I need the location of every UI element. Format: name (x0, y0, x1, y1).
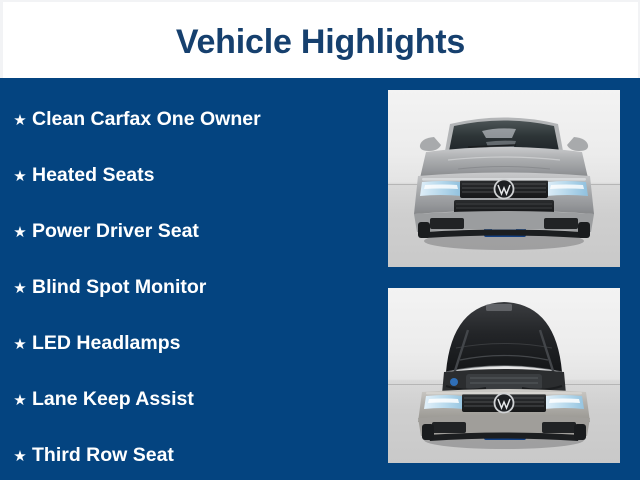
star-icon: ★ (8, 449, 32, 464)
highlight-label: Heated Seats (32, 166, 154, 186)
highlight-label: LED Headlamps (32, 334, 180, 354)
highlight-label: Third Row Seat (32, 446, 174, 466)
list-item: ★ Power Driver Seat (0, 204, 380, 260)
vehicle-illustration-engine (388, 288, 620, 463)
star-icon: ★ (8, 225, 32, 240)
list-item: ★ Clean Carfax One Owner (0, 92, 380, 148)
list-item: ★ Third Row Seat (0, 428, 380, 480)
highlights-list: ★ Clean Carfax One Owner ★ Heated Seats … (0, 92, 380, 480)
list-item: ★ LED Headlamps (0, 316, 380, 372)
star-icon: ★ (8, 113, 32, 128)
star-icon: ★ (8, 169, 32, 184)
vehicle-illustration-front (388, 90, 620, 267)
list-item: ★ Heated Seats (0, 148, 380, 204)
vehicle-highlights-page: Vehicle Highlights ★ Clean Carfax One Ow… (0, 0, 640, 480)
highlight-label: Clean Carfax One Owner (32, 110, 261, 130)
highlight-label: Power Driver Seat (32, 222, 199, 242)
star-icon: ★ (8, 337, 32, 352)
star-icon: ★ (8, 281, 32, 296)
page-title: Vehicle Highlights (176, 25, 465, 59)
vehicle-photo-front[interactable] (388, 90, 620, 267)
page-header: Vehicle Highlights (0, 0, 640, 78)
vehicle-photo-engine[interactable] (388, 288, 620, 463)
highlight-label: Lane Keep Assist (32, 390, 194, 410)
star-icon: ★ (8, 393, 32, 408)
list-item: ★ Blind Spot Monitor (0, 260, 380, 316)
list-item: ★ Lane Keep Assist (0, 372, 380, 428)
highlight-label: Blind Spot Monitor (32, 278, 206, 298)
